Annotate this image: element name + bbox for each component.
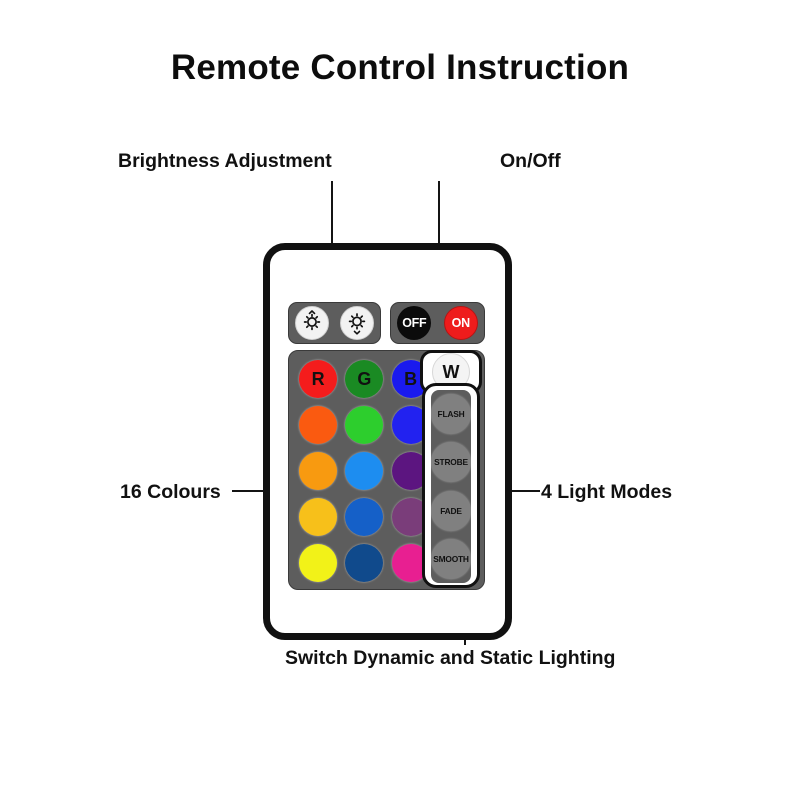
page-title: Remote Control Instruction [0, 48, 800, 88]
color-button[interactable] [299, 544, 337, 582]
light-mode-button[interactable]: STROBE [431, 442, 471, 482]
diagram-canvas: Remote Control Instruction Brightness Ad… [0, 0, 800, 800]
sun-up-icon [299, 310, 325, 336]
callout-16-colours: 16 Colours [120, 481, 221, 504]
on-button[interactable]: ON [444, 306, 478, 340]
light-modes-list: FLASHSTROBEFADESMOOTH [431, 390, 471, 583]
color-button[interactable] [299, 406, 337, 444]
sun-down-icon [344, 310, 370, 336]
color-button[interactable] [345, 498, 383, 536]
callout-brightness-adjustment: Brightness Adjustment [118, 150, 332, 173]
brightness-down-button[interactable] [340, 306, 374, 340]
light-mode-button[interactable]: SMOOTH [431, 539, 471, 579]
off-button[interactable]: OFF [397, 306, 431, 340]
power-panel: OFF ON [390, 302, 485, 344]
light-mode-button[interactable]: FADE [431, 491, 471, 531]
color-button[interactable] [299, 498, 337, 536]
callout-4-light-modes: 4 Light Modes [541, 481, 672, 504]
light-mode-button[interactable]: FLASH [431, 394, 471, 434]
color-button[interactable] [345, 406, 383, 444]
color-button[interactable]: G [345, 360, 383, 398]
brightness-up-button[interactable] [295, 306, 329, 340]
color-button[interactable] [345, 544, 383, 582]
color-button[interactable] [345, 452, 383, 490]
color-button[interactable]: R [299, 360, 337, 398]
callout-on-off: On/Off [500, 150, 561, 173]
callout-switch-dynamic-static-lighting: Switch Dynamic and Static Lighting [285, 647, 615, 670]
brightness-panel [288, 302, 381, 344]
light-modes-panel: FLASHSTROBEFADESMOOTH [422, 383, 480, 588]
color-button[interactable] [299, 452, 337, 490]
remote-control-body: OFF ON RGB W FLASHSTROBEFADESMOOTH [263, 243, 512, 640]
